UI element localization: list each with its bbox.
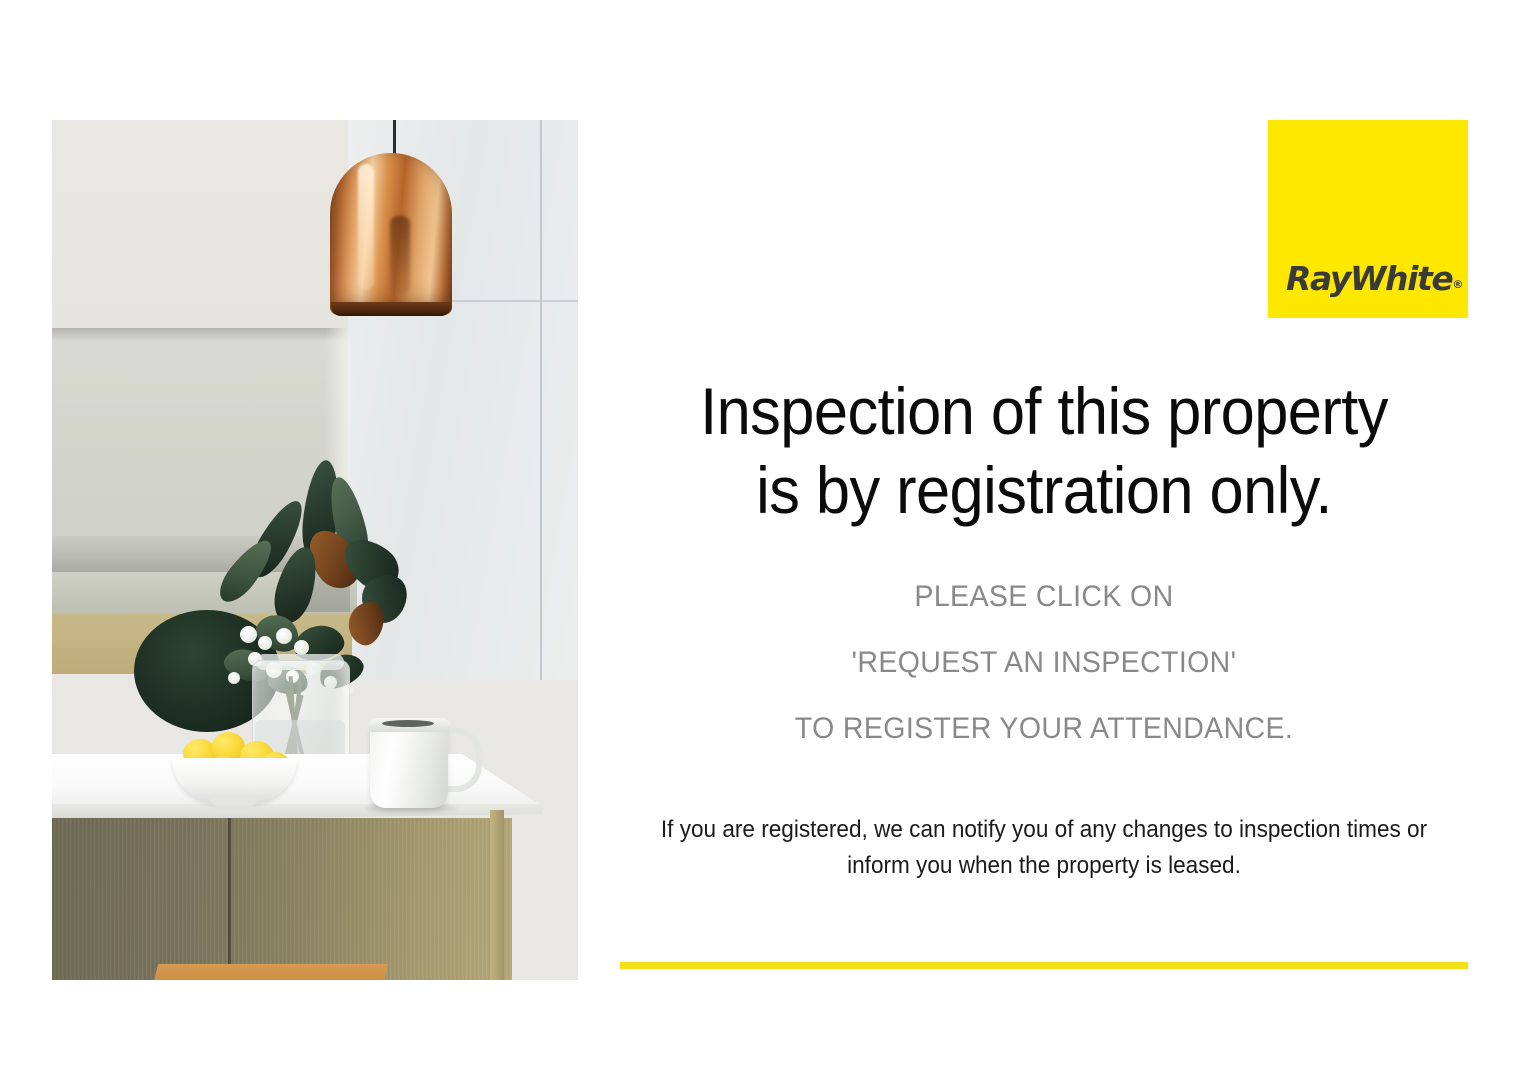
island-wood-grain bbox=[52, 818, 512, 980]
alcove-shadow bbox=[52, 328, 350, 342]
kitchen-photo bbox=[52, 120, 578, 980]
instruction-line-2: 'REQUEST AN INSPECTION' bbox=[641, 646, 1447, 680]
blossom bbox=[258, 636, 272, 650]
pendant-cord bbox=[393, 120, 396, 157]
footnote-line-2: inform you when the property is leased. bbox=[847, 852, 1241, 879]
instructions-block: PLEASE CLICK ON 'REQUEST AN INSPECTION' … bbox=[641, 580, 1447, 746]
instruction-line-3: TO REGISTER YOUR ATTENDANCE. bbox=[641, 712, 1447, 746]
jug-mouth bbox=[382, 720, 434, 727]
pendant-shadow bbox=[390, 216, 410, 294]
pendant-highlight bbox=[358, 164, 374, 290]
poster-page: RayWhite® Inspection of this property is… bbox=[0, 0, 1529, 1080]
kitchen-photo-artwork bbox=[52, 120, 578, 980]
island-side-panel bbox=[490, 810, 504, 980]
blossom bbox=[276, 628, 292, 644]
registered-trademark-icon: ® bbox=[1452, 278, 1463, 291]
island-cabinet-seam bbox=[228, 818, 231, 980]
blossom bbox=[240, 626, 257, 643]
pendant-rim bbox=[331, 302, 451, 316]
logo-wordmark-text: RayWhite bbox=[1286, 259, 1452, 298]
footnote-line-1: If you are registered, we can notify you… bbox=[661, 816, 1427, 843]
ray-white-logo: RayWhite® bbox=[1268, 120, 1468, 318]
wall-upper bbox=[52, 120, 350, 328]
blossom bbox=[294, 640, 309, 655]
fruit-bowl-foot bbox=[210, 798, 258, 806]
page-title-line-1: Inspection of this property bbox=[650, 372, 1439, 451]
instruction-line-1: PLEASE CLICK ON bbox=[641, 580, 1447, 614]
timber-stool-seat bbox=[144, 964, 388, 980]
ceramic-jug bbox=[370, 724, 448, 808]
blossom bbox=[228, 672, 240, 684]
page-title: Inspection of this property is by regist… bbox=[650, 372, 1439, 530]
logo-wordmark: RayWhite® bbox=[1286, 262, 1463, 295]
page-title-line-2: is by registration only. bbox=[650, 451, 1439, 530]
accent-rule bbox=[620, 962, 1468, 969]
cabinetry-seam-vertical bbox=[540, 120, 542, 680]
footnote-text: If you are registered, we can notify you… bbox=[627, 812, 1462, 885]
